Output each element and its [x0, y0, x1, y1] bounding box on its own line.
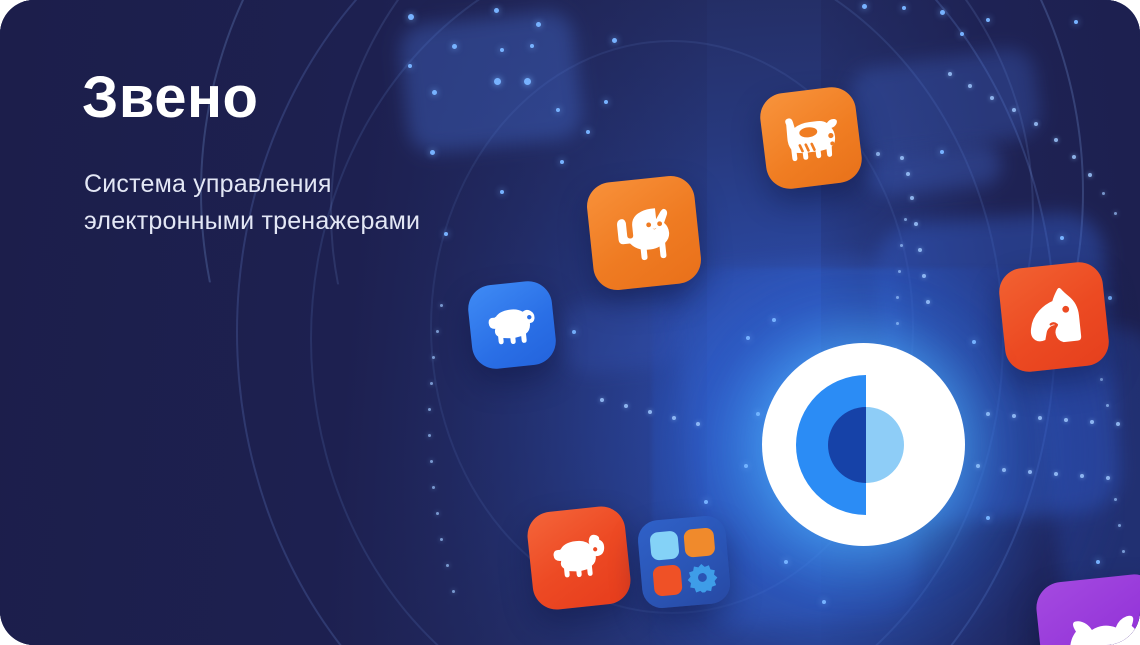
- horse-icon: [1020, 285, 1088, 349]
- page-title: Звено: [82, 68, 258, 129]
- cat-icon: [610, 200, 678, 266]
- page-subtitle-line-2: электронными тренажерами: [84, 203, 554, 240]
- apps-cell-light-blue: [649, 530, 679, 560]
- apps-cell-gear: [686, 561, 719, 594]
- gear-icon: [686, 561, 719, 594]
- sheep-icon: [483, 301, 541, 348]
- pig-icon: [1056, 609, 1140, 645]
- horse-tile[interactable]: [997, 260, 1111, 374]
- ram-tile[interactable]: [525, 504, 633, 612]
- apps-cell-orange: [683, 527, 715, 558]
- apps-tile[interactable]: [636, 514, 731, 609]
- screenshot-stage: Звено Система управления электронными тр…: [0, 0, 1140, 645]
- sheep-tile[interactable]: [466, 279, 558, 371]
- cow-icon: [778, 110, 844, 167]
- zveno-logo-mark: [792, 371, 940, 519]
- ram-icon: [547, 531, 612, 585]
- cat-tile[interactable]: [585, 174, 704, 293]
- cow-tile[interactable]: [758, 85, 865, 192]
- hero-card: Звено Система управления электронными тр…: [0, 0, 1140, 645]
- page-subtitle-line-1: Система управления: [84, 166, 554, 203]
- page-subtitle: Система управления электронными тренажер…: [84, 166, 554, 240]
- apps-cell-red: [652, 564, 683, 596]
- apps-grid-icon: [649, 527, 718, 596]
- zveno-logo: [762, 343, 965, 546]
- background-plate-1: [398, 9, 584, 154]
